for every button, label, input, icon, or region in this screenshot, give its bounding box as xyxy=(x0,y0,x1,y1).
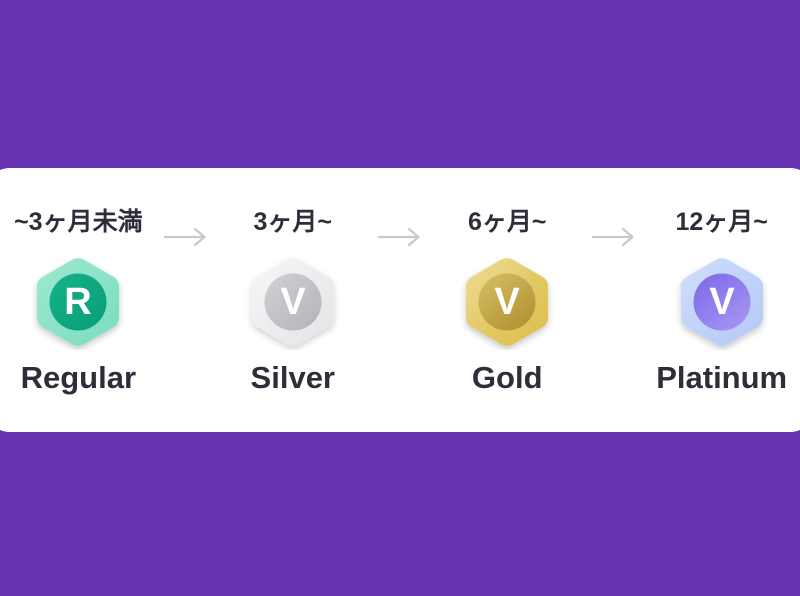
tier-progression-flow: ~3ヶ月未満 xyxy=(0,168,800,432)
tier-duration-regular: ~3ヶ月未満 xyxy=(14,208,143,238)
arrow-right-icon xyxy=(586,180,644,248)
tier-column-platinum[interactable]: 12ヶ月~ xyxy=(643,208,800,393)
svg-text:R: R xyxy=(65,281,92,323)
hexagon-badge-gold-icon: V xyxy=(459,254,555,350)
tier-column-silver[interactable]: 3ヶ月~ xyxy=(214,208,371,393)
tier-column-regular[interactable]: ~3ヶ月未満 xyxy=(0,208,157,393)
svg-text:V: V xyxy=(709,281,735,323)
rank-tier-card: ~3ヶ月未満 xyxy=(0,168,800,432)
tier-name-gold: Gold xyxy=(472,362,543,393)
tier-duration-gold: 6ヶ月~ xyxy=(468,208,547,238)
svg-text:V: V xyxy=(495,281,521,323)
tier-name-platinum: Platinum xyxy=(656,362,787,393)
tier-name-regular: Regular xyxy=(21,362,136,393)
tier-duration-silver: 3ヶ月~ xyxy=(254,208,333,238)
tier-duration-platinum: 12ヶ月~ xyxy=(675,208,767,238)
hexagon-badge-silver-icon: V xyxy=(245,254,341,350)
arrow-right-icon xyxy=(371,180,429,248)
hexagon-badge-regular-icon: R xyxy=(30,254,126,350)
tier-column-gold[interactable]: 6ヶ月~ xyxy=(429,208,586,393)
svg-text:V: V xyxy=(280,281,306,323)
arrow-right-icon xyxy=(157,180,215,248)
tier-name-silver: Silver xyxy=(251,362,335,393)
hexagon-badge-platinum-icon: V xyxy=(674,254,770,350)
